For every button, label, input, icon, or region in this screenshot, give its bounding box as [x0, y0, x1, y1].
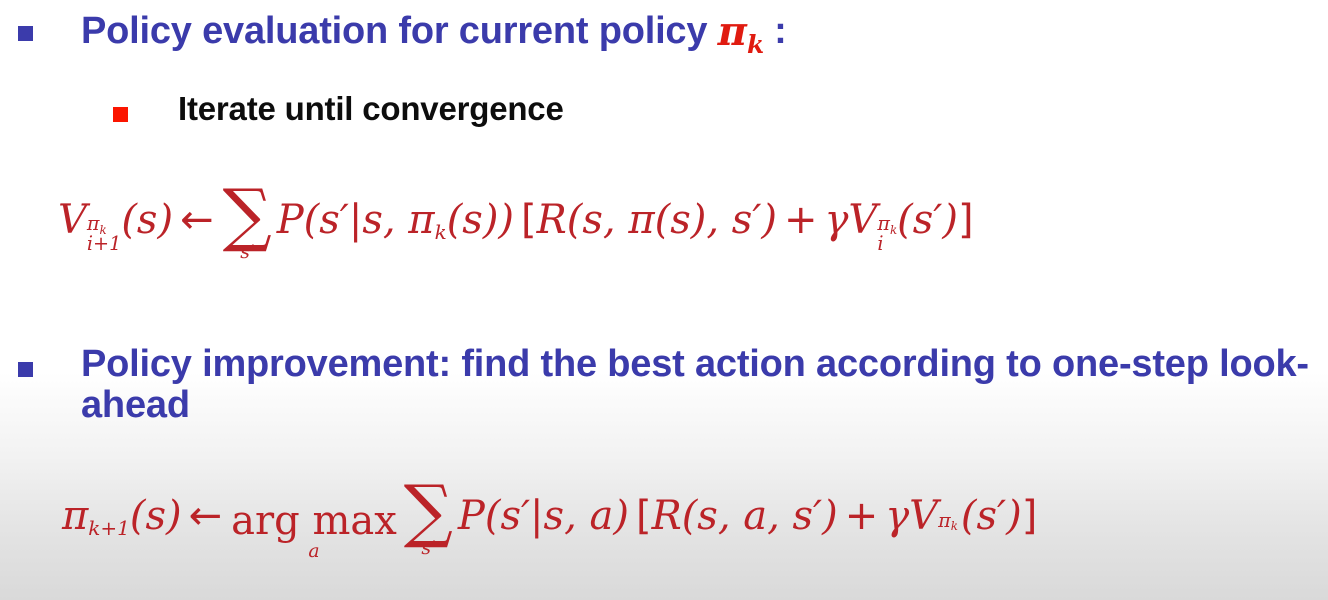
math-open-bracket: [	[521, 200, 537, 240]
summation-glyph: ∑	[223, 187, 272, 243]
formula-policy-evaluation: V πk i+1 (s) ← ∑ s′ P(s′|s, πk(s)) [R(s,…	[58, 182, 974, 258]
pi-glyph: π	[718, 8, 747, 55]
math-V-sup-sub: πk i+1	[87, 214, 121, 253]
bullet-policy-evaluation-label: Policy evaluation for current policy πk …	[81, 8, 787, 52]
math2-open-bracket: [	[636, 496, 652, 536]
bullet-policy-improvement: Policy improvement: find the best action…	[18, 344, 1326, 426]
pi-symbol: πk	[718, 8, 764, 55]
math2-V-argument: (s′)	[961, 496, 1022, 536]
math-V2-superscript: πk	[877, 214, 897, 234]
math-V2-sup-pi-sub: k	[890, 223, 897, 237]
math-P-pi-subscript: k	[435, 222, 447, 242]
math2-argmax: arg max a	[231, 501, 397, 562]
formula-policy-improvement: πk+1(s) ← arg max a ∑ s′ P(s′|s, a) [R(s…	[62, 478, 1037, 557]
summation-lower-limit-2: s′	[421, 540, 435, 559]
bullet-policy-improvement-label: Policy improvement: find the best action…	[81, 344, 1326, 426]
bullet-iterate-until-convergence: Iterate until convergence	[113, 92, 564, 127]
math-V-argument: (s)	[121, 200, 173, 240]
math2-P-arguments: (s′|s, a)	[485, 496, 629, 536]
math2-pi-subscript: k+1	[88, 518, 130, 538]
math-gamma: γ	[825, 200, 849, 240]
math-token-V: V	[58, 200, 87, 240]
summation-glyph-2: ∑	[404, 483, 453, 539]
math2-plus-sign: +	[845, 496, 879, 536]
math2-close-bracket: ]	[1022, 496, 1038, 536]
bullet-text-after-symbol: :	[764, 10, 787, 52]
math-R-arguments: (s, π(s), s′)	[567, 200, 777, 240]
math-V-sup-pi-sub: k	[100, 223, 107, 237]
math2-token-R: R	[652, 496, 682, 536]
math2-V-superscript: πk	[938, 511, 958, 530]
math2-V-sup-pi-sub: k	[951, 519, 958, 533]
math-token-P: P	[277, 200, 304, 240]
bullet-iterate-until-convergence-label: Iterate until convergence	[178, 92, 564, 127]
math2-left-arrow-icon: ←	[189, 496, 223, 536]
math-V2-argument: (s′)	[897, 200, 958, 240]
math2-token-P: P	[458, 496, 485, 536]
math-token-V2: V	[848, 200, 877, 240]
bullet-text-before-symbol: Policy evaluation for current policy	[81, 10, 718, 52]
slide-canvas: Policy evaluation for current policy πk …	[0, 0, 1328, 600]
math-close-bracket: ]	[958, 200, 974, 240]
math-P-arguments: (s′|s, π	[304, 200, 435, 240]
math-summation: ∑ s′	[223, 187, 272, 263]
math2-pi: π	[62, 496, 88, 536]
argmax-glyph: arg max	[231, 501, 397, 541]
math-V-superscript: πk	[87, 214, 121, 234]
argmax-lower-limit: a	[308, 543, 319, 562]
blue-square-bullet-icon-2	[18, 362, 33, 377]
bullet-policy-evaluation: Policy evaluation for current policy πk …	[18, 8, 787, 52]
summation-lower-limit: s′	[240, 244, 254, 263]
math2-gamma: γ	[885, 496, 909, 536]
math2-pi-argument: (s)	[130, 496, 182, 536]
math-token-R: R	[537, 200, 567, 240]
red-square-bullet-icon	[113, 107, 128, 122]
math-P-arguments-close: (s))	[447, 200, 514, 240]
math2-token-V: V	[909, 496, 938, 536]
math-V2-sup-sub: πk i	[877, 214, 897, 253]
math2-summation: ∑ s′	[404, 483, 453, 559]
math-left-arrow-icon: ←	[180, 200, 214, 240]
math-plus-sign: +	[784, 200, 818, 240]
math2-R-arguments: (s, a, s′)	[682, 496, 838, 536]
pi-subscript: k	[747, 30, 764, 59]
math2-V-sup-pi: π	[938, 509, 951, 532]
blue-square-bullet-icon	[18, 26, 33, 41]
